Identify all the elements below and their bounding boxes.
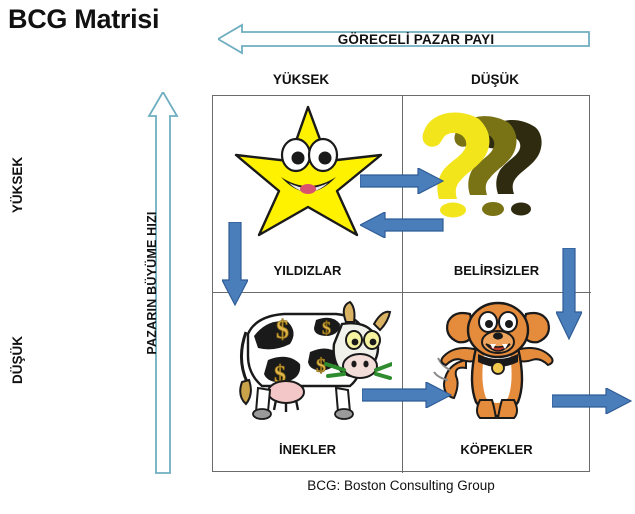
row-label-high: YÜKSEK (7, 125, 27, 245)
quadrant-label-dogs: KÖPEKLER (402, 442, 591, 457)
bcg-matrix: YILDIZLAR BELİRSİZLER (212, 95, 590, 472)
horizontal-axis-arrow: GÖRECELİ PAZAR PAYI (218, 22, 590, 56)
column-label-low: DÜŞÜK (435, 72, 555, 87)
flow-arrow-dogs-exit (552, 388, 632, 419)
svg-text:$: $ (276, 315, 289, 344)
row-label-low: DÜŞÜK (7, 300, 27, 420)
page-title: BCG Matrisi (8, 6, 159, 33)
flow-arrow-cows-to-dogs (362, 382, 452, 413)
flow-arrow-stars-to-questions (360, 168, 444, 199)
quadrant-label-cash-cows: İNEKLER (213, 442, 402, 457)
horizontal-axis-label: GÖRECELİ PAZAR PAYI (218, 22, 590, 56)
svg-text:$: $ (316, 355, 326, 377)
vertical-axis-label: PAZARIN BÜYÜME HIZI (146, 92, 180, 474)
svg-text:$: $ (322, 318, 331, 338)
vertical-axis-arrow: PAZARIN BÜYÜME HIZI (146, 92, 180, 474)
flow-arrow-stars-to-cows (222, 222, 248, 311)
flow-arrow-questions-to-stars (360, 212, 444, 243)
footer-caption: BCG: Boston Consulting Group (212, 478, 590, 493)
column-label-high: YÜKSEK (241, 72, 361, 87)
flow-arrow-questions-to-dogs (556, 248, 582, 345)
